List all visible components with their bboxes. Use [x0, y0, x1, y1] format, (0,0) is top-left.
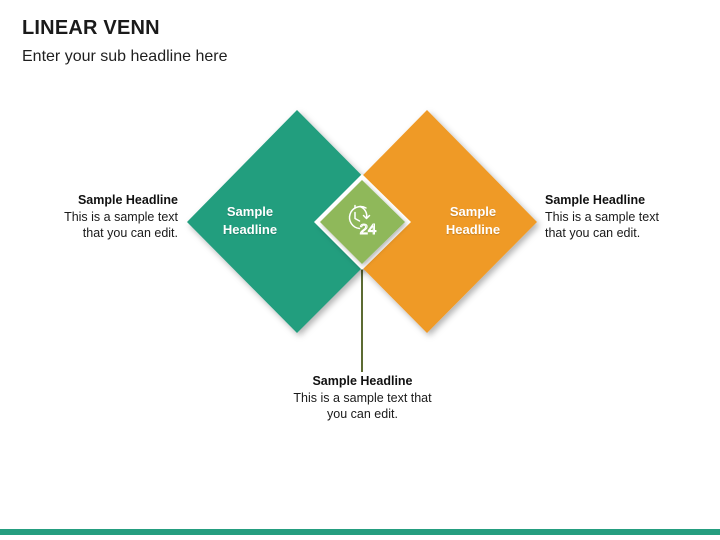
callout-bottom-body: This is a sample text that you can edit.: [265, 390, 460, 423]
callout-left-headline: Sample Headline: [30, 192, 178, 209]
slide-canvas: LINEAR VENN Enter your sub headline here: [0, 0, 720, 540]
clock-24-hours-icon-text: 24: [360, 221, 377, 238]
callout-bottom: Sample Headline This is a sample text th…: [265, 373, 460, 423]
callout-left: Sample Headline This is a sample text th…: [30, 192, 178, 242]
callout-right-headline: Sample Headline: [545, 192, 695, 209]
callout-right-body: This is a sample text that you can edit.: [545, 209, 695, 242]
callout-left-body: This is a sample text that you can edit.: [30, 209, 178, 242]
callout-right: Sample Headline This is a sample text th…: [545, 192, 695, 242]
venn-diagram: 24: [0, 0, 720, 540]
callout-bottom-headline: Sample Headline: [265, 373, 460, 390]
footer-accent-bar: [0, 529, 720, 535]
